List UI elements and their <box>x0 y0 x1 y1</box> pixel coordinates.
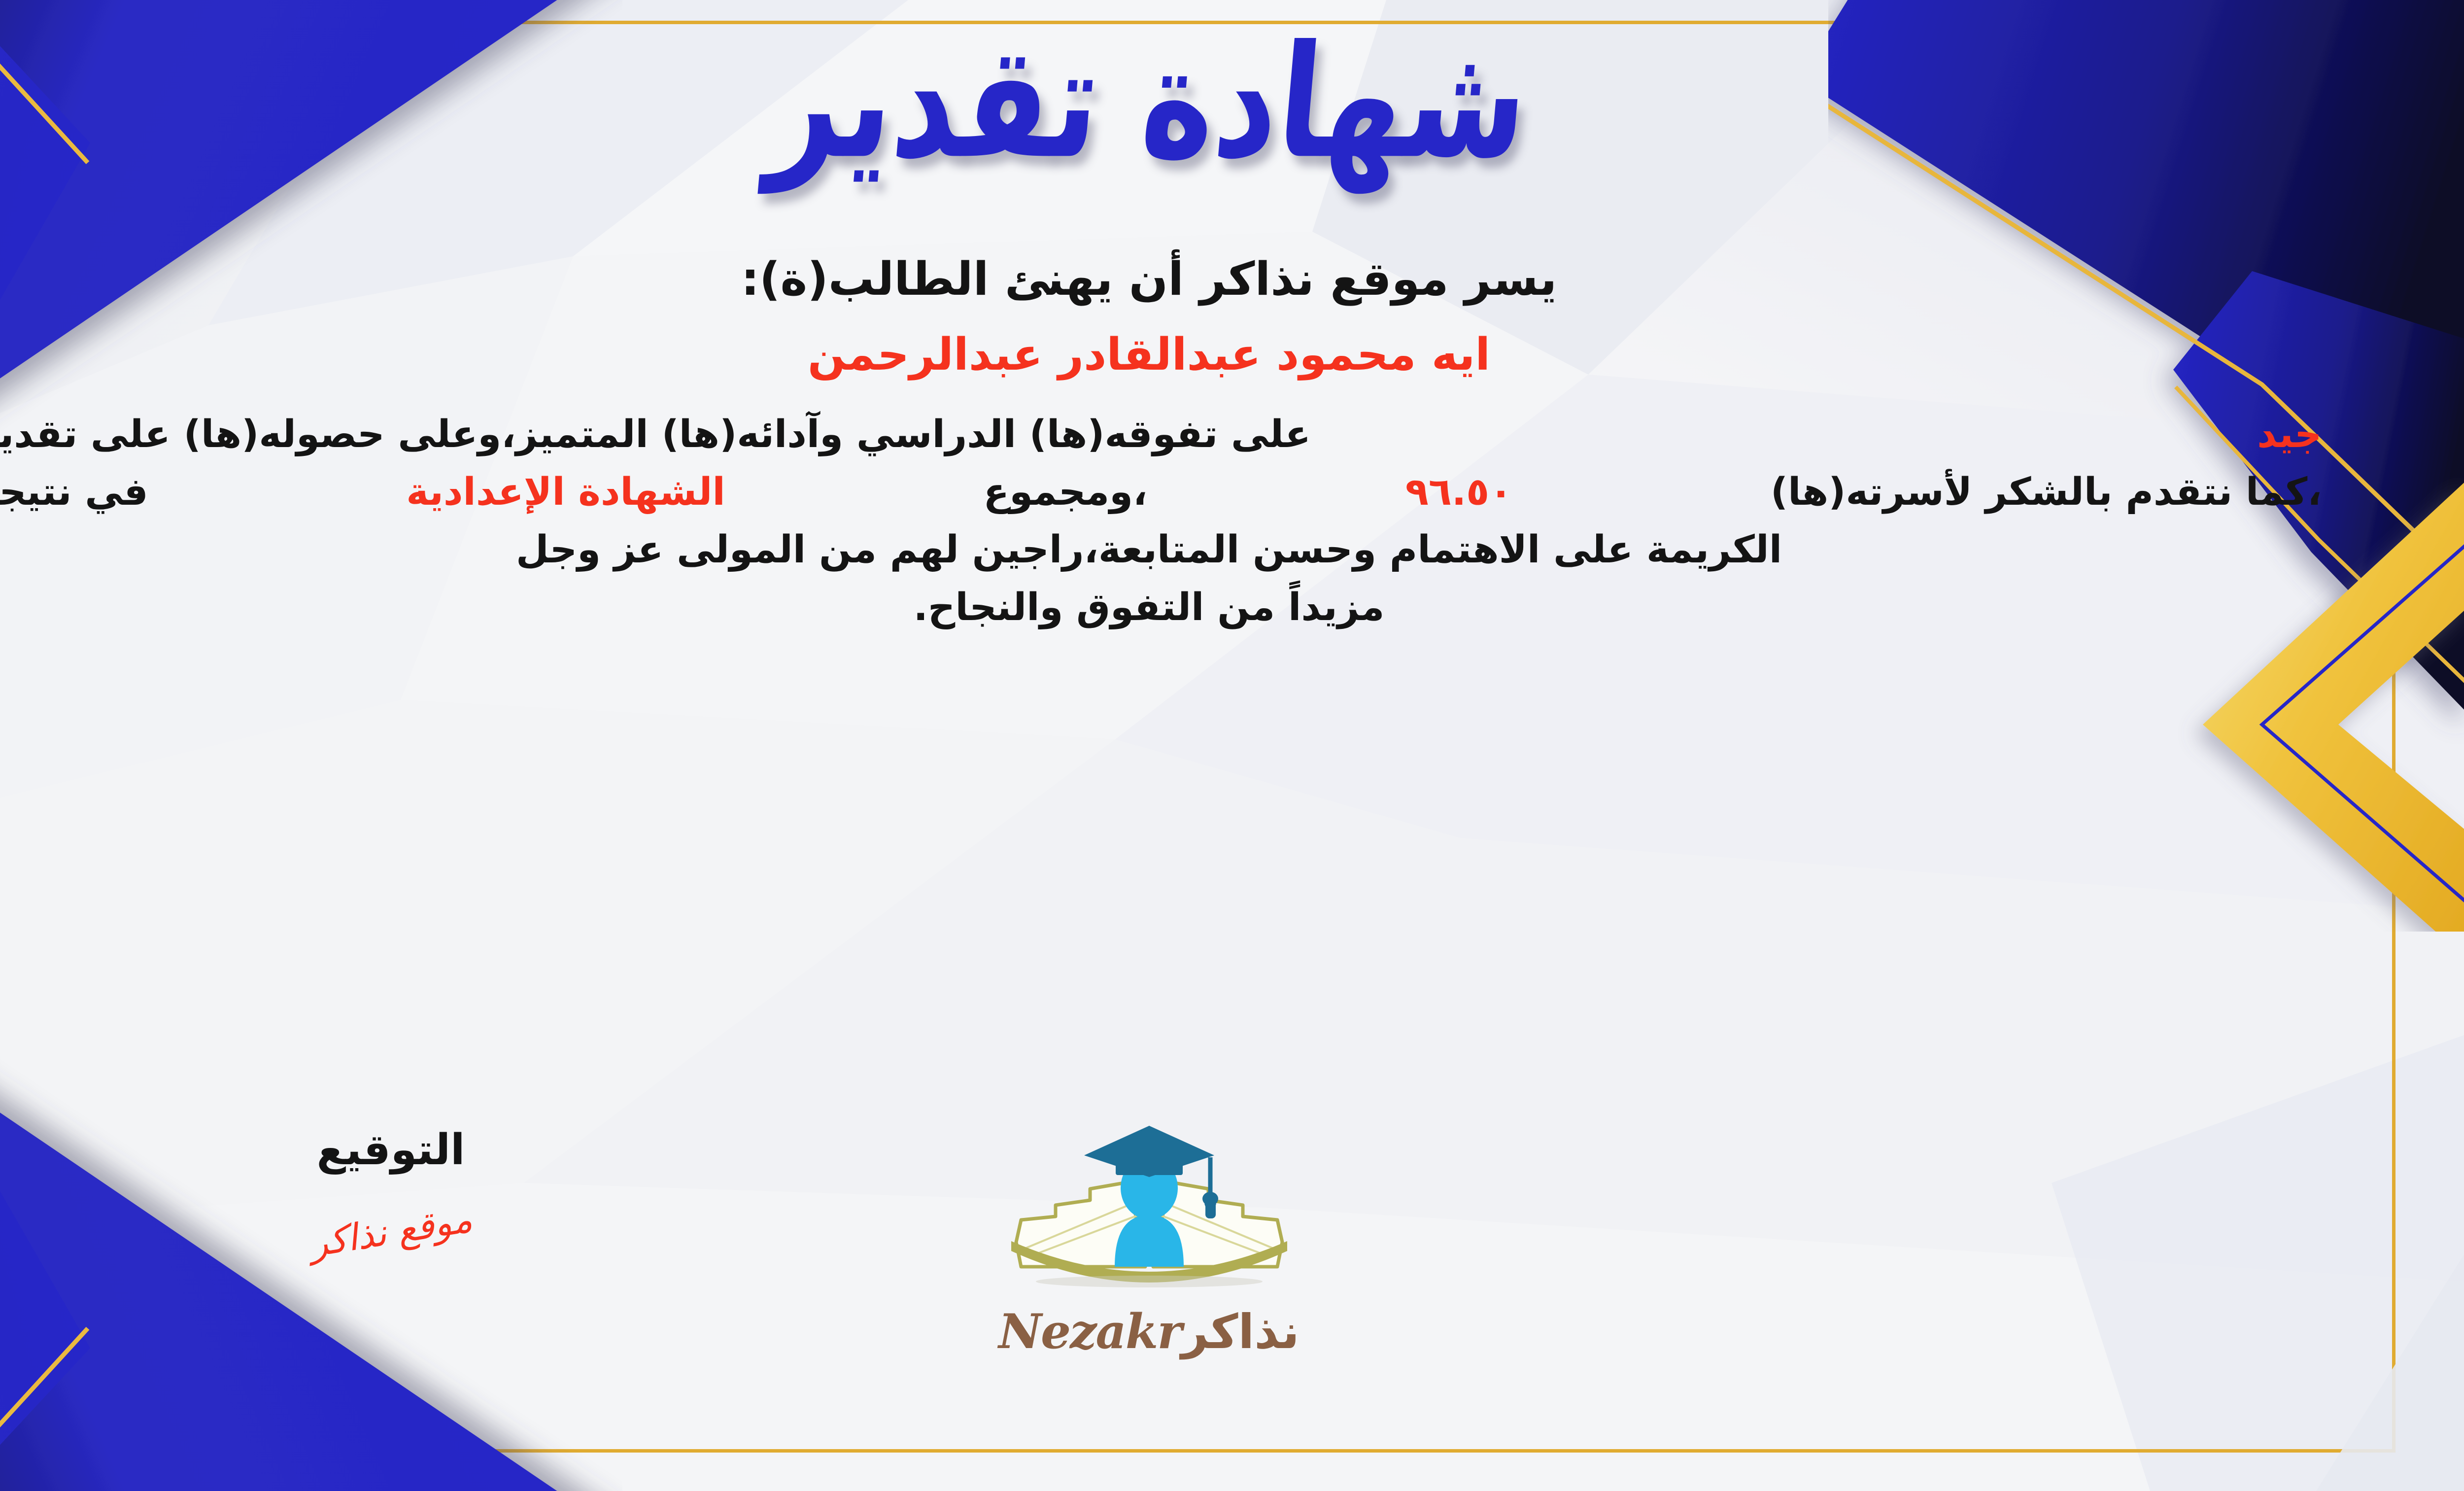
certificate-footer: التوقيع موقع نذاكر <box>0 1129 2464 1434</box>
body-line-2-head: في نتيجة <box>0 463 148 521</box>
brand-logo: نذاكرNezakr <box>962 1119 1336 1355</box>
greeting-line: يسر موقع نذاكر أن يهنئ الطالب(ة): <box>741 250 1557 308</box>
total-score-value: ٩٦.٥٠ <box>1405 463 1512 521</box>
exam-name-value: الشهادة الإعدادية <box>406 463 725 521</box>
logo-wordmark: نذاكرNezakr <box>962 1308 1336 1355</box>
signature-block: التوقيع موقع نذاكر <box>238 1129 544 1250</box>
body-line-2: ،كما نتقدم بالشكر لأسرته(ها) ٩٦.٥٠ ،ومجم… <box>0 463 2322 521</box>
logo-latin: Nezakr <box>998 1304 1181 1359</box>
signature-label: التوقيع <box>238 1129 544 1171</box>
body-line-2-mid: ،ومجموع <box>983 463 1147 521</box>
body-line-3: الكريمة على الاهتمام وحسن المتابعة،راجين… <box>0 521 2322 579</box>
logo-arabic: نذاكر <box>1181 1304 1300 1359</box>
body-line-2-tail: ،كما نتقدم بالشكر لأسرته(ها) <box>1771 463 2322 521</box>
title-area: شهادة تقدير <box>0 24 2464 181</box>
body-line-4: مزيداً من التفوق والنجاح. <box>0 579 2322 636</box>
graduate-book-logo-icon <box>992 1119 1307 1311</box>
signature-mark: موقع نذاكر <box>307 1201 475 1262</box>
page-title: شهادة تقدير <box>764 25 1534 180</box>
certificate-canvas: شهادة تقدير يسر موقع نذاكر أن يهنئ الطال… <box>0 0 2464 1491</box>
student-name: ايه محمود عبدالقادر عبدالرحمن <box>808 327 1490 383</box>
body-line-1: جيد على تفوقه(ها) الدراسي وآدائه(ها) الم… <box>0 406 2322 463</box>
certificate-body: جيد على تفوقه(ها) الدراسي وآدائه(ها) الم… <box>0 406 2322 636</box>
body-line-1-text: على تفوقه(ها) الدراسي وآدائه(ها) المتميز… <box>0 406 1311 463</box>
grade-value: جيد <box>2257 406 2322 463</box>
